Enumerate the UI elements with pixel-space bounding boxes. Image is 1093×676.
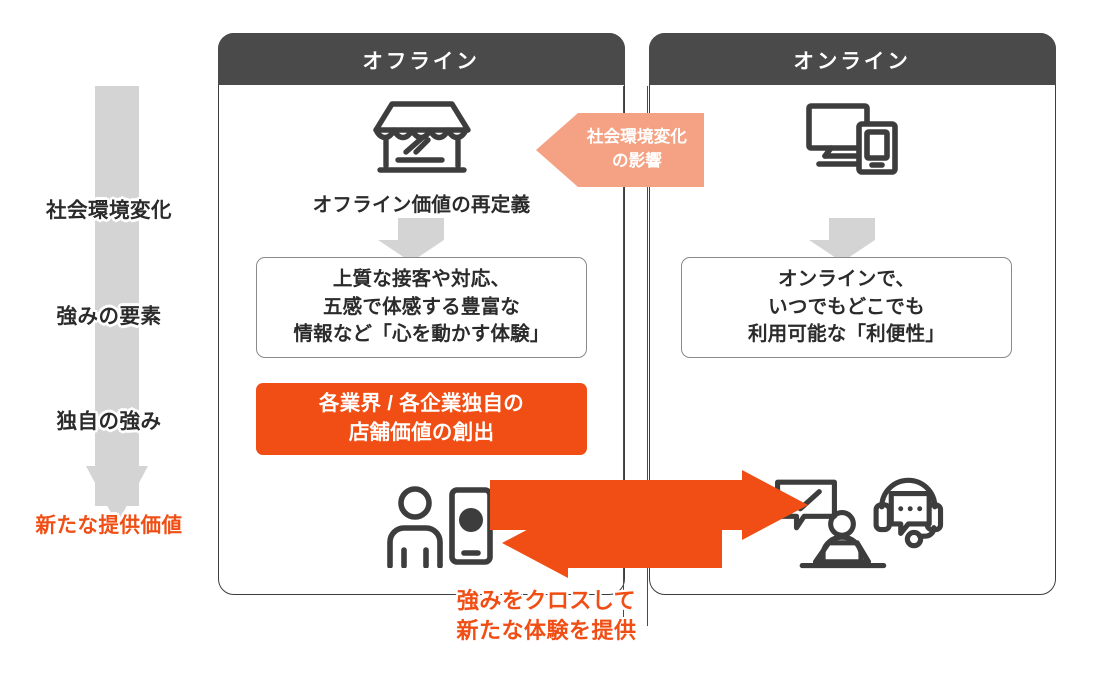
offline-highlight-line-2: 店舗価値の創出	[349, 419, 495, 448]
online-strength-box: オンラインで、 いつでもどこでも 利用可能な「利便性」	[681, 257, 1012, 358]
online-flow-arrow	[829, 218, 875, 262]
online-strength-line-2: いつでもどこでも	[768, 294, 925, 322]
online-strength-line-3: 利用可能な「利便性」	[748, 321, 945, 349]
offline-highlight-line-1: 各業界 / 各企業独自の	[319, 390, 524, 419]
desktop-and-mobile-icon	[649, 100, 1056, 178]
cross-strength-arrows	[490, 470, 850, 580]
diagram-canvas: 社会環境変化 強みの要素 独自の強み 新たな提供価値 オフライン オンライン オ…	[0, 0, 1093, 676]
influence-arrow-line-2: の影響	[612, 150, 662, 174]
offline-icon-caption: オフライン価値の再定義	[218, 188, 625, 217]
offline-flow-arrow	[398, 218, 444, 262]
bottom-caption-line-1: 強みをクロスして	[0, 586, 1093, 616]
panel-online-header: オンライン	[649, 33, 1056, 85]
offline-strength-line-2: 五感で体感する豊富な	[323, 294, 520, 322]
axis-label-strength-factor: 強みの要素	[0, 299, 218, 329]
process-axis-arrow-shaft	[95, 86, 139, 506]
social-change-influence-arrow: 社会環境変化 の影響	[536, 113, 704, 187]
online-strength-line-1: オンラインで、	[778, 266, 915, 294]
bottom-caption-line-2: 新たな体験を提供	[0, 616, 1093, 646]
axis-label-unique-strength: 独自の強み	[0, 404, 218, 434]
offline-strength-line-1: 上質な接客や対応、	[333, 266, 510, 294]
axis-label-social-change: 社会環境変化	[0, 193, 218, 223]
panel-offline-header: オフライン	[218, 33, 625, 85]
influence-arrow-line-1: 社会環境変化	[587, 126, 687, 150]
customer-with-smartphone-icon	[380, 480, 500, 570]
offline-highlight-box: 各業界 / 各企業独自の 店舗価値の創出	[256, 383, 587, 455]
bottom-caption: 強みをクロスして 新たな体験を提供	[0, 586, 1093, 647]
offline-strength-line-3: 情報など「心を動かす体験」	[293, 321, 549, 349]
offline-strength-box: 上質な接客や対応、 五感で体感する豊富な 情報など「心を動かす体験」	[256, 257, 587, 358]
axis-label-new-value: 新たな提供価値	[0, 508, 218, 538]
